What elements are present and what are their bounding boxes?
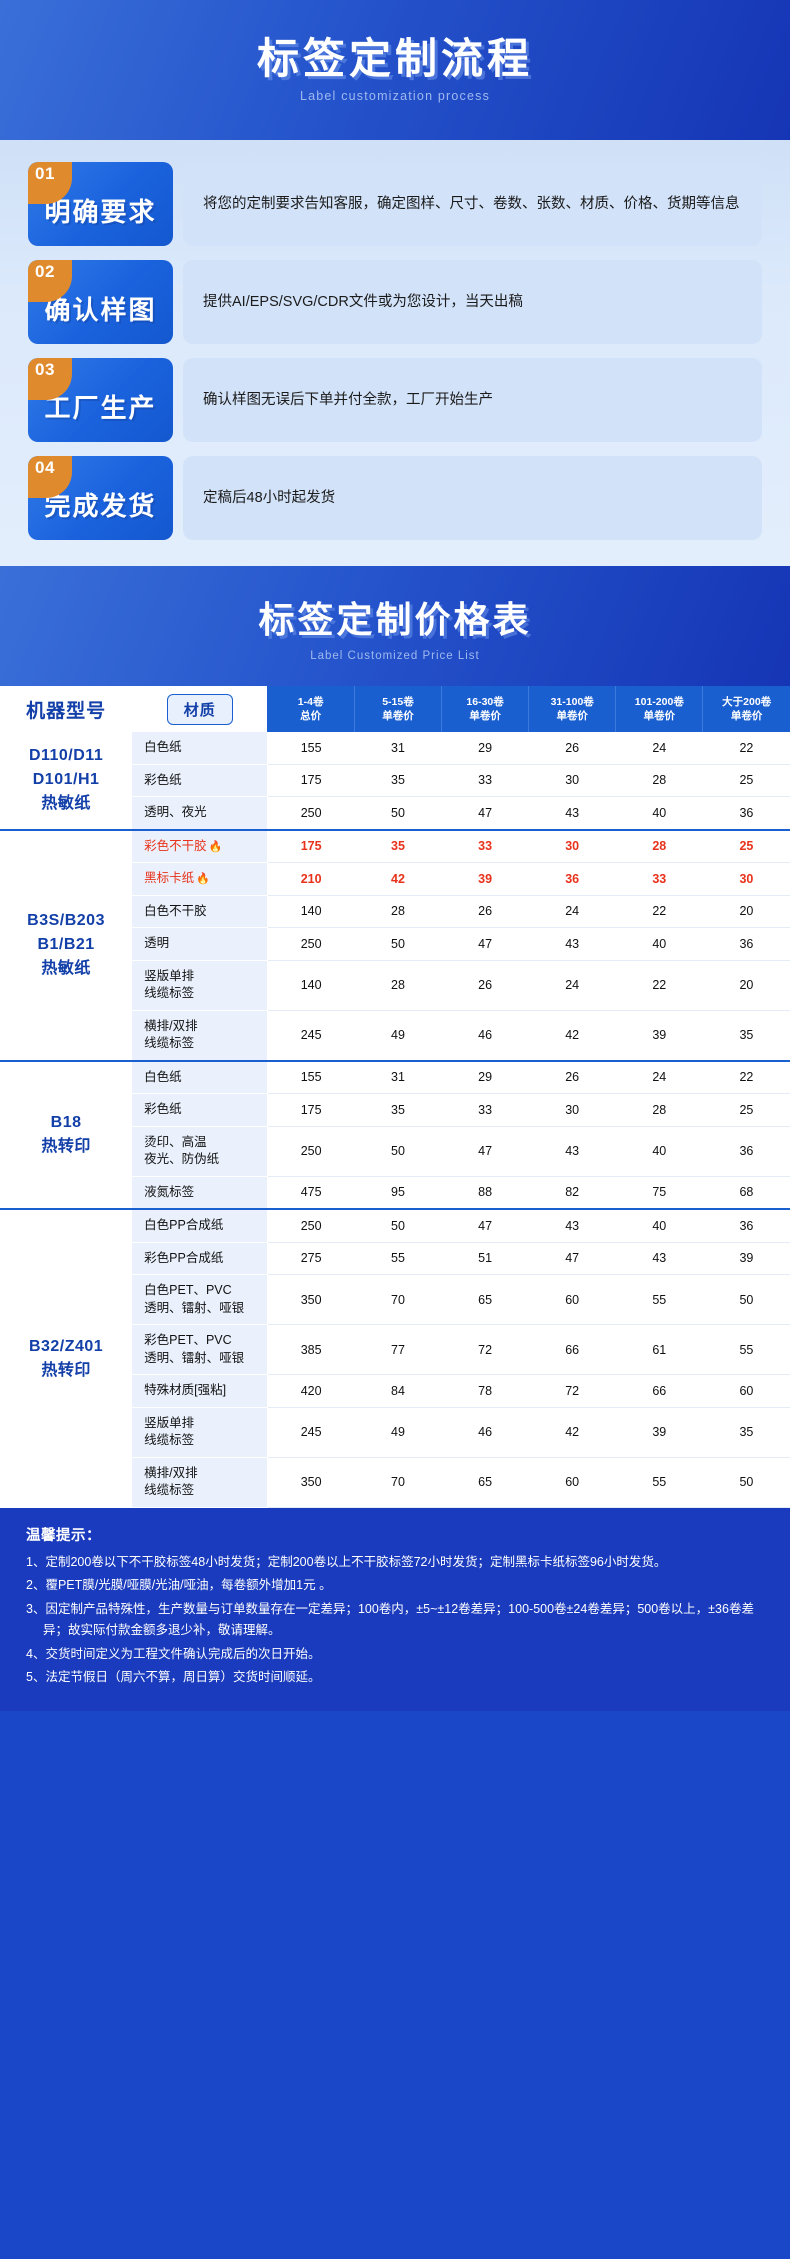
note-item: 3、因定制产品特殊性，生产数量与订单数量存在一定差异；100卷内，±5~±12卷… bbox=[26, 1599, 764, 1642]
price-cell: 50 bbox=[354, 1209, 441, 1242]
price-cell: 84 bbox=[354, 1375, 441, 1408]
step-description: 将您的定制要求告知客服，确定图样、尺寸、卷数、张数、材质、价格、货期等信息 bbox=[183, 162, 762, 246]
price-table-body: D110/D11D101/H1热敏纸白色纸1553129262422彩色纸175… bbox=[0, 732, 790, 1507]
price-cell: 35 bbox=[703, 1407, 790, 1457]
price-cell: 43 bbox=[529, 797, 616, 830]
price-cell: 26 bbox=[529, 1061, 616, 1094]
step-badge: 02 确认样图 bbox=[28, 260, 173, 344]
price-cell: 60 bbox=[703, 1375, 790, 1408]
price-cell: 78 bbox=[442, 1375, 529, 1408]
price-cell: 250 bbox=[267, 928, 354, 961]
price-cell: 24 bbox=[529, 895, 616, 928]
price-cell: 28 bbox=[354, 960, 441, 1010]
price-cell: 47 bbox=[442, 1126, 529, 1176]
price-cell: 82 bbox=[529, 1176, 616, 1209]
price-cell: 245 bbox=[267, 1407, 354, 1457]
price-cell: 35 bbox=[354, 830, 441, 863]
price-cell: 385 bbox=[267, 1325, 354, 1375]
price-subtitle: Label Customized Price List bbox=[310, 650, 480, 662]
material-cell: 透明 bbox=[132, 928, 267, 961]
price-cell: 250 bbox=[267, 1209, 354, 1242]
price-cell: 72 bbox=[529, 1375, 616, 1408]
price-cell: 24 bbox=[616, 732, 703, 764]
price-cell: 50 bbox=[703, 1457, 790, 1507]
price-cell: 39 bbox=[442, 863, 529, 896]
step-badge: 01 明确要求 bbox=[28, 162, 173, 246]
price-cell: 210 bbox=[267, 863, 354, 896]
material-cell: 透明、夜光 bbox=[132, 797, 267, 830]
material-cell: 横排/双排线缆标签 bbox=[132, 1010, 267, 1061]
price-cell: 55 bbox=[703, 1325, 790, 1375]
price-cell: 36 bbox=[703, 928, 790, 961]
price-cell: 60 bbox=[529, 1275, 616, 1325]
price-cell: 35 bbox=[354, 764, 441, 797]
process-steps-list: 01 明确要求 将您的定制要求告知客服，确定图样、尺寸、卷数、张数、材质、价格、… bbox=[0, 140, 790, 566]
price-cell: 40 bbox=[616, 1209, 703, 1242]
price-cell: 20 bbox=[703, 960, 790, 1010]
price-cell: 55 bbox=[616, 1457, 703, 1507]
price-cell: 155 bbox=[267, 1061, 354, 1094]
price-cell: 47 bbox=[442, 1209, 529, 1242]
table-row: B18热转印白色纸1553129262422 bbox=[0, 1061, 790, 1094]
header-tier-3: 16-30卷单卷价 bbox=[442, 686, 529, 732]
price-cell: 420 bbox=[267, 1375, 354, 1408]
price-hero-banner: 标签定制价格表 Label Customized Price List bbox=[0, 566, 790, 686]
price-cell: 43 bbox=[529, 928, 616, 961]
step-badge: 03 工厂生产 bbox=[28, 358, 173, 442]
note-item: 5、法定节假日（周六不算，周日算）交货时间顺延。 bbox=[26, 1667, 764, 1689]
price-cell: 30 bbox=[529, 1094, 616, 1127]
price-table: 机器型号 材质 1-4卷总价 5-15卷单卷价 16-30卷单卷价 31-100… bbox=[0, 686, 790, 1508]
price-cell: 29 bbox=[442, 732, 529, 764]
price-cell: 70 bbox=[354, 1275, 441, 1325]
price-cell: 30 bbox=[529, 830, 616, 863]
step-description: 确认样图无误后下单并付全款，工厂开始生产 bbox=[183, 358, 762, 442]
header-material: 材质 bbox=[132, 686, 267, 732]
process-step: 02 确认样图 提供AI/EPS/SVG/CDR文件或为您设计，当天出稿 bbox=[28, 260, 762, 344]
price-cell: 22 bbox=[703, 1061, 790, 1094]
model-cell: B32/Z401热转印 bbox=[0, 1209, 132, 1507]
price-table-wrapper: 机器型号 材质 1-4卷总价 5-15卷单卷价 16-30卷单卷价 31-100… bbox=[0, 686, 790, 1508]
process-step: 04 完成发货 定稿后48小时起发货 bbox=[28, 456, 762, 540]
price-cell: 28 bbox=[616, 1094, 703, 1127]
price-cell: 140 bbox=[267, 895, 354, 928]
price-cell: 28 bbox=[616, 764, 703, 797]
price-cell: 33 bbox=[442, 1094, 529, 1127]
process-subtitle: Label customization process bbox=[300, 89, 490, 103]
material-cell: 彩色PP合成纸 bbox=[132, 1242, 267, 1275]
price-cell: 47 bbox=[442, 797, 529, 830]
price-cell: 50 bbox=[354, 797, 441, 830]
note-item: 2、覆PET膜/光膜/哑膜/光油/哑油，每卷额外增加1元 。 bbox=[26, 1575, 764, 1597]
material-cell: 白色纸 bbox=[132, 732, 267, 764]
price-title: 标签定制价格表 bbox=[258, 591, 531, 643]
table-row: D110/D11D101/H1热敏纸白色纸1553129262422 bbox=[0, 732, 790, 764]
price-cell: 25 bbox=[703, 764, 790, 797]
price-cell: 25 bbox=[703, 830, 790, 863]
price-cell: 140 bbox=[267, 960, 354, 1010]
header-tier-5: 101-200卷单卷价 bbox=[616, 686, 703, 732]
price-cell: 42 bbox=[354, 863, 441, 896]
price-cell: 28 bbox=[616, 830, 703, 863]
price-cell: 43 bbox=[529, 1126, 616, 1176]
header-tier-2: 5-15卷单卷价 bbox=[354, 686, 441, 732]
material-cell: 特殊材质[强粘] bbox=[132, 1375, 267, 1408]
price-cell: 245 bbox=[267, 1010, 354, 1061]
flame-icon: 🔥 bbox=[209, 841, 223, 853]
process-step: 01 明确要求 将您的定制要求告知客服，确定图样、尺寸、卷数、张数、材质、价格、… bbox=[28, 162, 762, 246]
table-row: B3S/B203B1/B21热敏纸彩色不干胶🔥1753533302825 bbox=[0, 830, 790, 863]
price-cell: 50 bbox=[354, 928, 441, 961]
price-cell: 46 bbox=[442, 1010, 529, 1061]
header-tier-1: 1-4卷总价 bbox=[267, 686, 354, 732]
price-cell: 43 bbox=[529, 1209, 616, 1242]
price-cell: 70 bbox=[354, 1457, 441, 1507]
price-cell: 475 bbox=[267, 1176, 354, 1209]
material-cell: 竖版单排线缆标签 bbox=[132, 960, 267, 1010]
price-cell: 33 bbox=[442, 830, 529, 863]
material-cell: 白色纸 bbox=[132, 1061, 267, 1094]
price-cell: 33 bbox=[616, 863, 703, 896]
material-cell: 烫印、高温夜光、防伪纸 bbox=[132, 1126, 267, 1176]
price-cell: 68 bbox=[703, 1176, 790, 1209]
price-cell: 66 bbox=[529, 1325, 616, 1375]
price-cell: 350 bbox=[267, 1275, 354, 1325]
footer-notes: 温馨提示： 1、定制200卷以下不干胶标签48小时发货；定制200卷以上不干胶标… bbox=[0, 1508, 790, 1711]
price-cell: 30 bbox=[529, 764, 616, 797]
price-table-head: 机器型号 材质 1-4卷总价 5-15卷单卷价 16-30卷单卷价 31-100… bbox=[0, 686, 790, 732]
price-cell: 250 bbox=[267, 797, 354, 830]
process-step: 03 工厂生产 确认样图无误后下单并付全款，工厂开始生产 bbox=[28, 358, 762, 442]
price-cell: 175 bbox=[267, 1094, 354, 1127]
step-description: 定稿后48小时起发货 bbox=[183, 456, 762, 540]
price-cell: 36 bbox=[703, 1126, 790, 1176]
price-cell: 72 bbox=[442, 1325, 529, 1375]
price-cell: 40 bbox=[616, 797, 703, 830]
price-cell: 24 bbox=[616, 1061, 703, 1094]
price-cell: 26 bbox=[442, 895, 529, 928]
model-cell: B18热转印 bbox=[0, 1061, 132, 1210]
price-cell: 65 bbox=[442, 1275, 529, 1325]
price-cell: 49 bbox=[354, 1407, 441, 1457]
price-cell: 28 bbox=[354, 895, 441, 928]
model-cell: B3S/B203B1/B21热敏纸 bbox=[0, 830, 132, 1061]
process-title: 标签定制流程 bbox=[257, 37, 533, 81]
price-cell: 39 bbox=[616, 1407, 703, 1457]
price-cell: 31 bbox=[354, 1061, 441, 1094]
price-cell: 39 bbox=[703, 1242, 790, 1275]
price-cell: 31 bbox=[354, 732, 441, 764]
price-cell: 47 bbox=[442, 928, 529, 961]
note-item: 4、交货时间定义为工程文件确认完成后的次日开始。 bbox=[26, 1644, 764, 1666]
price-cell: 155 bbox=[267, 732, 354, 764]
price-cell: 55 bbox=[354, 1242, 441, 1275]
price-cell: 39 bbox=[616, 1010, 703, 1061]
model-cell: D110/D11D101/H1热敏纸 bbox=[0, 732, 132, 830]
price-cell: 50 bbox=[354, 1126, 441, 1176]
price-cell: 55 bbox=[616, 1275, 703, 1325]
price-cell: 22 bbox=[703, 732, 790, 764]
price-cell: 350 bbox=[267, 1457, 354, 1507]
price-cell: 20 bbox=[703, 895, 790, 928]
material-cell: 彩色PET、PVC透明、镭射、哑银 bbox=[132, 1325, 267, 1375]
price-cell: 65 bbox=[442, 1457, 529, 1507]
price-cell: 40 bbox=[616, 928, 703, 961]
price-cell: 30 bbox=[703, 863, 790, 896]
table-row: B32/Z401热转印白色PP合成纸2505047434036 bbox=[0, 1209, 790, 1242]
material-cell: 白色PET、PVC透明、镭射、哑银 bbox=[132, 1275, 267, 1325]
material-cell: 白色不干胶 bbox=[132, 895, 267, 928]
material-cell: 液氮标签 bbox=[132, 1176, 267, 1209]
price-cell: 26 bbox=[442, 960, 529, 1010]
material-cell: 彩色不干胶🔥 bbox=[132, 830, 267, 863]
header-model: 机器型号 bbox=[0, 686, 132, 732]
price-cell: 35 bbox=[703, 1010, 790, 1061]
material-cell: 黑标卡纸🔥 bbox=[132, 863, 267, 896]
price-cell: 46 bbox=[442, 1407, 529, 1457]
price-cell: 75 bbox=[616, 1176, 703, 1209]
table-header-row: 机器型号 材质 1-4卷总价 5-15卷单卷价 16-30卷单卷价 31-100… bbox=[0, 686, 790, 732]
header-tier-4: 31-100卷单卷价 bbox=[529, 686, 616, 732]
header-material-pill: 材质 bbox=[167, 694, 233, 725]
price-cell: 33 bbox=[442, 764, 529, 797]
price-cell: 275 bbox=[267, 1242, 354, 1275]
price-cell: 24 bbox=[529, 960, 616, 1010]
process-hero-banner: 标签定制流程 Label customization process bbox=[0, 0, 790, 140]
price-cell: 36 bbox=[703, 1209, 790, 1242]
price-cell: 42 bbox=[529, 1407, 616, 1457]
price-cell: 60 bbox=[529, 1457, 616, 1507]
price-cell: 43 bbox=[616, 1242, 703, 1275]
price-cell: 25 bbox=[703, 1094, 790, 1127]
price-cell: 26 bbox=[529, 732, 616, 764]
price-cell: 29 bbox=[442, 1061, 529, 1094]
price-cell: 66 bbox=[616, 1375, 703, 1408]
price-cell: 51 bbox=[442, 1242, 529, 1275]
price-cell: 175 bbox=[267, 830, 354, 863]
step-description: 提供AI/EPS/SVG/CDR文件或为您设计，当天出稿 bbox=[183, 260, 762, 344]
price-cell: 61 bbox=[616, 1325, 703, 1375]
material-cell: 竖版单排线缆标签 bbox=[132, 1407, 267, 1457]
note-item: 1、定制200卷以下不干胶标签48小时发货；定制200卷以上不干胶标签72小时发… bbox=[26, 1552, 764, 1574]
price-cell: 42 bbox=[529, 1010, 616, 1061]
price-cell: 22 bbox=[616, 895, 703, 928]
price-cell: 95 bbox=[354, 1176, 441, 1209]
price-cell: 49 bbox=[354, 1010, 441, 1061]
price-cell: 88 bbox=[442, 1176, 529, 1209]
price-cell: 175 bbox=[267, 764, 354, 797]
price-cell: 250 bbox=[267, 1126, 354, 1176]
price-cell: 77 bbox=[354, 1325, 441, 1375]
header-tier-6: 大于200卷单卷价 bbox=[703, 686, 790, 732]
price-cell: 36 bbox=[703, 797, 790, 830]
price-cell: 47 bbox=[529, 1242, 616, 1275]
price-cell: 22 bbox=[616, 960, 703, 1010]
price-cell: 35 bbox=[354, 1094, 441, 1127]
material-cell: 横排/双排线缆标签 bbox=[132, 1457, 267, 1507]
price-cell: 50 bbox=[703, 1275, 790, 1325]
price-cell: 36 bbox=[529, 863, 616, 896]
material-cell: 彩色纸 bbox=[132, 764, 267, 797]
flame-icon: 🔥 bbox=[196, 873, 210, 885]
material-cell: 彩色纸 bbox=[132, 1094, 267, 1127]
infographic-page: 标签定制流程 Label customization process 01 明确… bbox=[0, 0, 790, 1711]
price-cell: 40 bbox=[616, 1126, 703, 1176]
material-cell: 白色PP合成纸 bbox=[132, 1209, 267, 1242]
notes-title: 温馨提示： bbox=[26, 1524, 764, 1545]
step-badge: 04 完成发货 bbox=[28, 456, 173, 540]
